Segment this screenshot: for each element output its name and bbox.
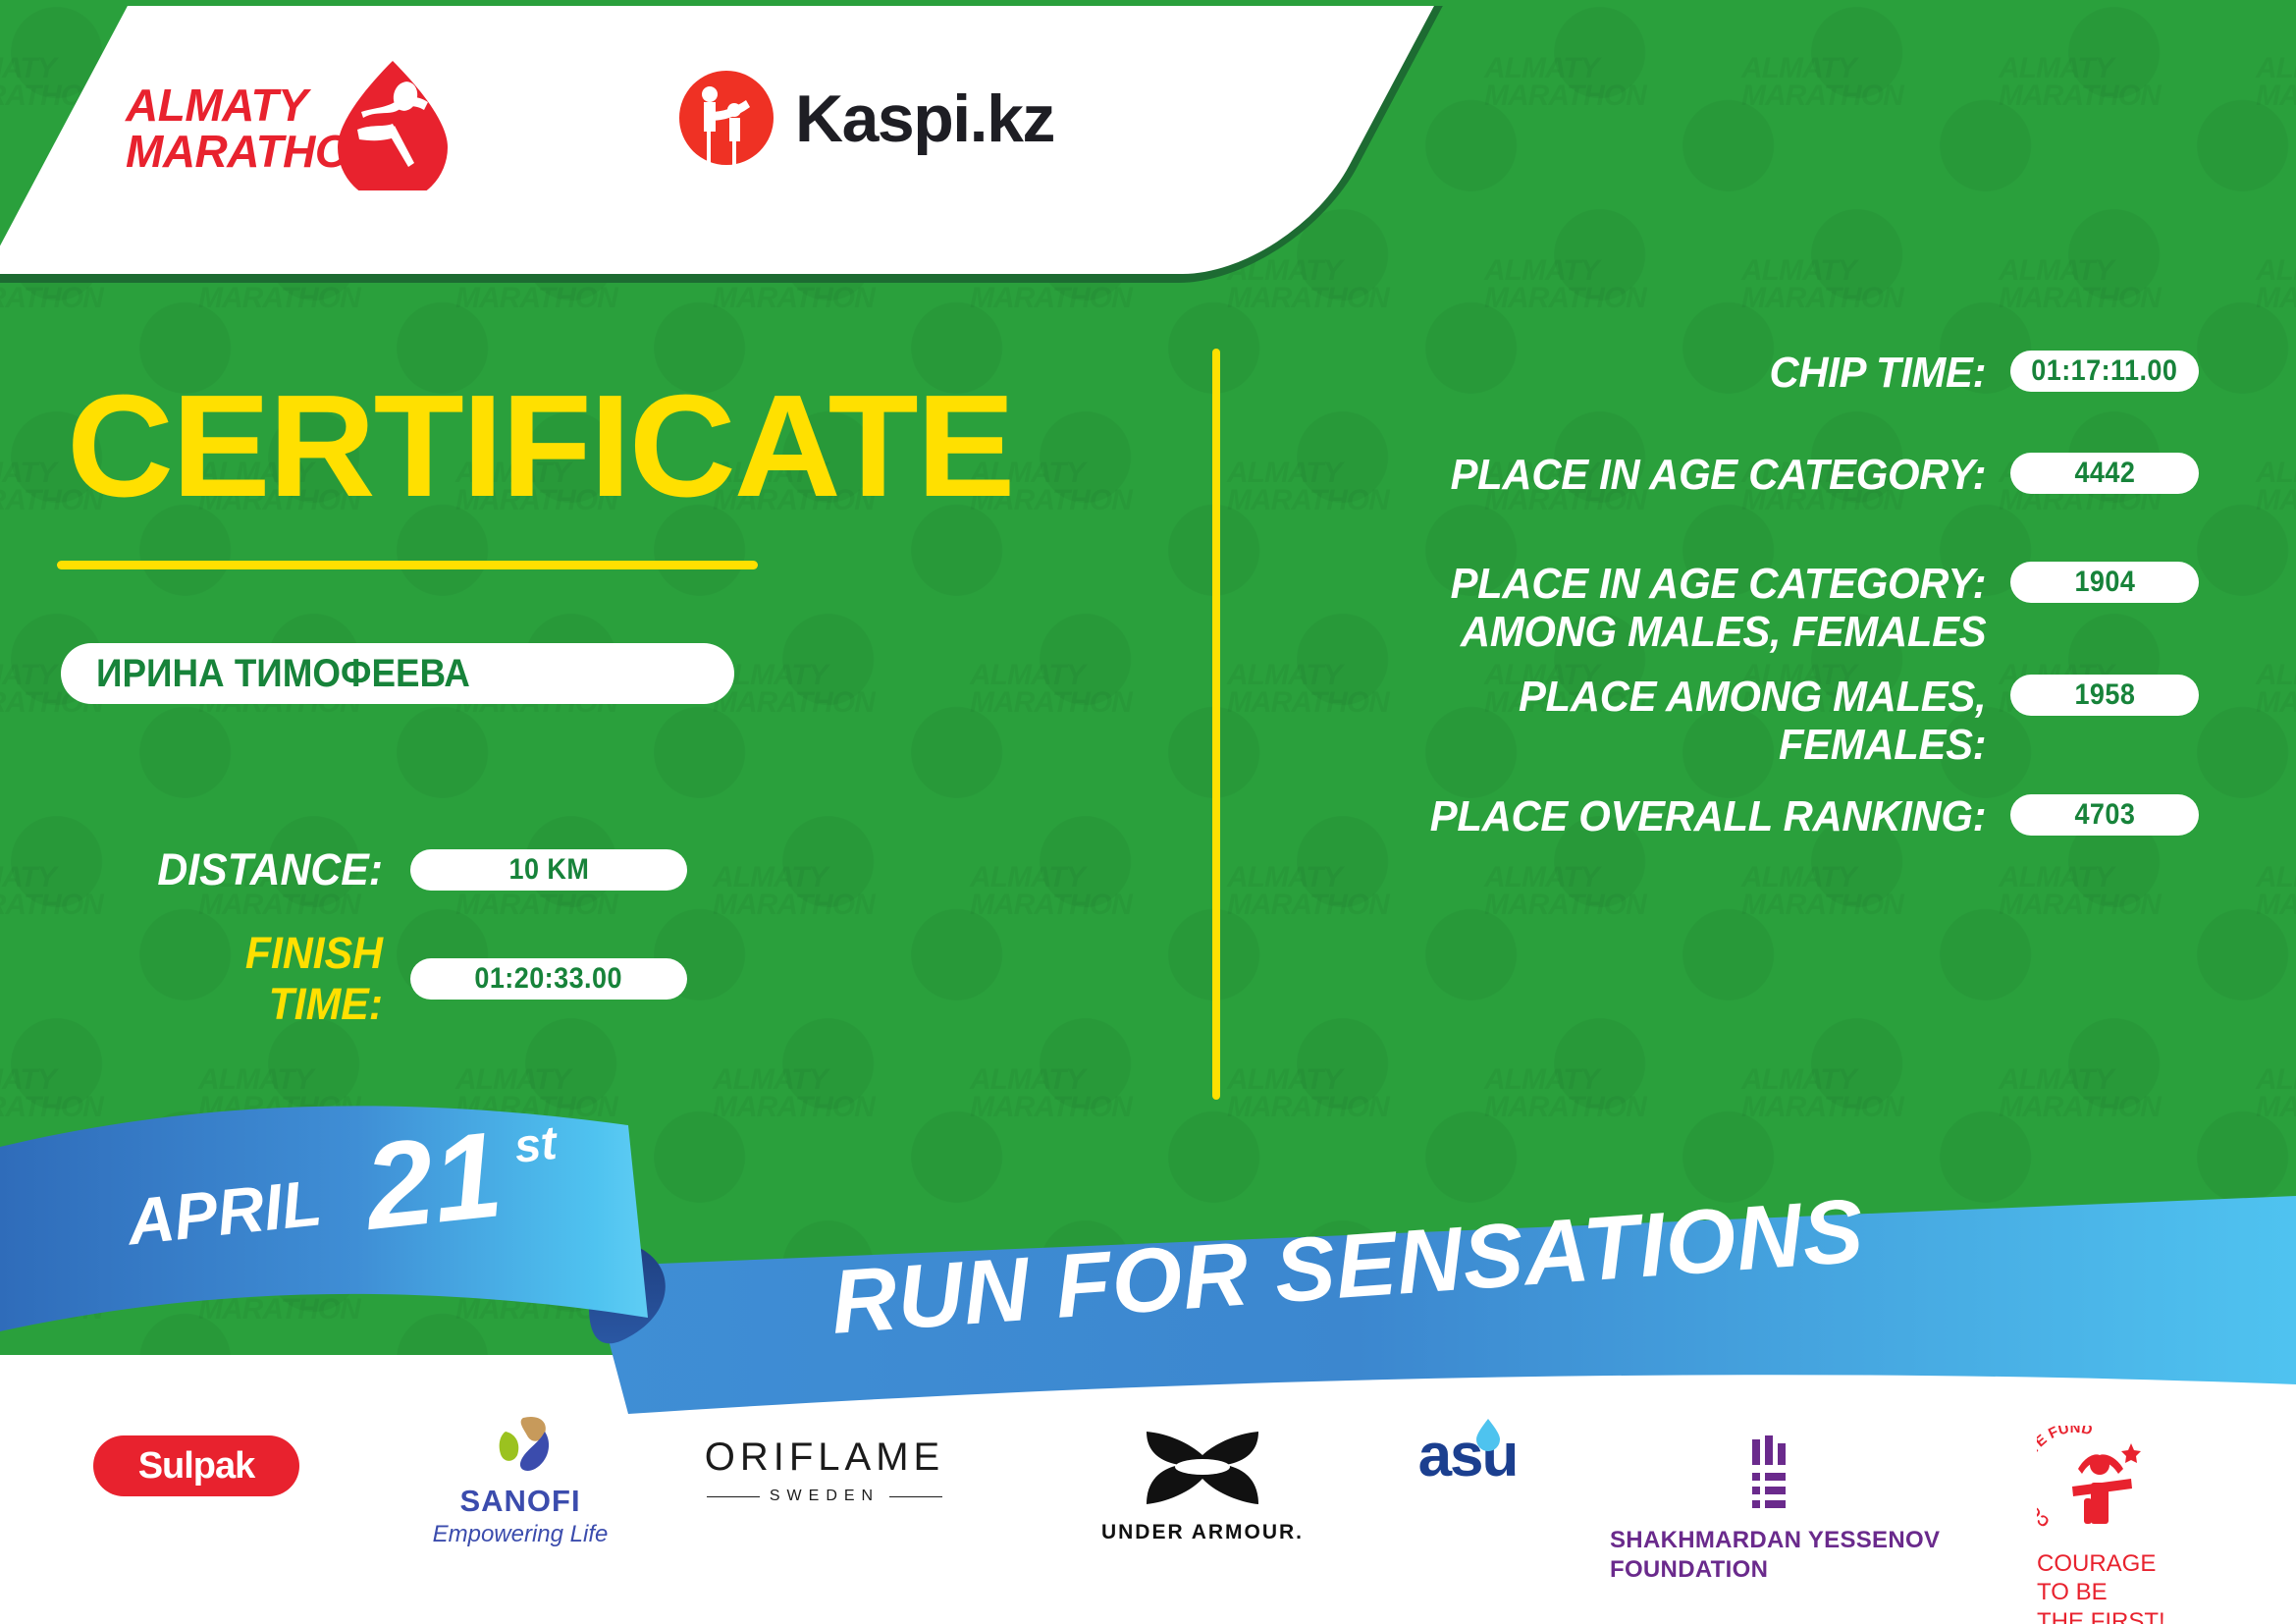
place-age-category-gender-label: PLACE IN AGE CATEGORY: AMONG MALES, FEMA… bbox=[1312, 560, 2010, 657]
sulpak-logo: Sulpak bbox=[93, 1435, 299, 1496]
chip-time-label: CHIP TIME: bbox=[1312, 349, 2010, 397]
place-overall-value-pill: 4703 bbox=[2010, 794, 2199, 836]
ribbon-day-suffix: st bbox=[512, 1117, 561, 1173]
sanofi-mark-icon bbox=[484, 1414, 557, 1480]
sulpak-name: Sulpak bbox=[138, 1445, 255, 1488]
place-age-category-label: PLACE IN AGE CATEGORY: bbox=[1312, 451, 2010, 499]
finish-time-value-pill: 01:20:33.00 bbox=[410, 958, 687, 1000]
sanofi-tagline: Empowering Life bbox=[433, 1521, 609, 1548]
watermark-tile: ALMATYMARATHON bbox=[1741, 55, 1903, 109]
ribbon-day: 21 bbox=[357, 1107, 508, 1256]
courage-figure-icon: CORPORATE FUND bbox=[2037, 1426, 2164, 1536]
watermark-tile: ALMATYMARATHON bbox=[1999, 55, 2161, 109]
place-among-gender-label: PLACE AMONG MALES, FEMALES: bbox=[1312, 673, 2010, 770]
watermark-tile: ALMATYMARATHON bbox=[2256, 460, 2296, 514]
kaspi-logo: Kaspi.kz bbox=[677, 61, 1099, 179]
oriflame-rule-right bbox=[889, 1496, 942, 1497]
page-title: CERTIFICATE bbox=[67, 374, 1013, 519]
yessenov-name-line2: FOUNDATION bbox=[1610, 1555, 1940, 1585]
event-ribbon: APRIL 21 st RUN FOR SENSATIONS bbox=[0, 1090, 2296, 1424]
under-armour-name: UNDER ARMOUR. bbox=[1101, 1521, 1304, 1544]
watermark-tile: ALMATYMARATHON bbox=[1999, 257, 2161, 311]
under-armour-icon bbox=[1139, 1428, 1266, 1515]
yessenov-name-line1: SHAKHMARDAN YESSENOV bbox=[1610, 1526, 1940, 1555]
finish-time-value: 01:20:33.00 bbox=[475, 962, 623, 996]
watermark-tile: ALMATYMARATHON bbox=[0, 864, 103, 918]
watermark-tile: ALMATYMARATHON bbox=[1227, 257, 1389, 311]
sponsor-yessenov-foundation: SHAKHMARDAN YESSENOV FOUNDATION bbox=[1610, 1435, 1940, 1585]
finish-time-label: FINISH TIME: bbox=[150, 928, 384, 1030]
sponsor-bar: Sulpak SANOFI Empowering Life ORIFLAME S… bbox=[0, 1414, 2296, 1591]
watermark-tile: ALMATYMARATHON bbox=[1999, 864, 2161, 918]
kaspi-people-circle-icon bbox=[677, 69, 775, 172]
yessenov-mark-icon bbox=[1750, 1435, 1799, 1506]
watermark-tile: ALMATYMARATHON bbox=[970, 662, 1132, 716]
sponsor-under-armour: UNDER ARMOUR. bbox=[1090, 1428, 1315, 1544]
sanofi-name: SANOFI bbox=[459, 1484, 580, 1519]
chip-time-value-pill: 01:17:11.00 bbox=[2010, 351, 2199, 392]
oriflame-rule-left bbox=[707, 1496, 760, 1497]
place-among-gender-row: PLACE AMONG MALES, FEMALES: 1958 bbox=[1276, 673, 2199, 770]
place-overall-label: PLACE OVERALL RANKING: bbox=[1312, 792, 2010, 840]
oriflame-sub: SWEDEN bbox=[770, 1488, 880, 1505]
vertical-divider bbox=[1212, 349, 1220, 1100]
place-age-category-value: 4442 bbox=[2074, 457, 2135, 490]
watermark-tile: ALMATYMARATHON bbox=[1484, 864, 1646, 918]
watermark-tile: ALMATYMARATHON bbox=[2256, 864, 2296, 918]
place-overall-row: PLACE OVERALL RANKING: 4703 bbox=[1276, 792, 2199, 840]
chip-time-value: 01:17:11.00 bbox=[2031, 354, 2177, 388]
place-age-category-row: PLACE IN AGE CATEGORY: 4442 bbox=[1276, 451, 2199, 499]
place-age-category-gender-value: 1904 bbox=[2074, 566, 2135, 599]
courage-line3: THE FIRST! bbox=[2037, 1607, 2165, 1624]
watermark-tile: ALMATYMARATHON bbox=[970, 864, 1132, 918]
distance-value: 10 KM bbox=[508, 853, 589, 887]
distance-value-pill: 10 KM bbox=[410, 849, 687, 891]
place-overall-value: 4703 bbox=[2074, 798, 2135, 832]
participant-name: ИРИНА ТИМОФЕЕВА bbox=[96, 652, 470, 696]
watermark-tile: ALMATYMARATHON bbox=[2256, 257, 2296, 311]
place-age-category-gender-row: PLACE IN AGE CATEGORY: AMONG MALES, FEMA… bbox=[1276, 560, 2199, 657]
asu-name: asu bbox=[1418, 1426, 1518, 1487]
sponsor-sanofi: SANOFI Empowering Life bbox=[412, 1414, 628, 1548]
watermark-tile: ALMATYMARATHON bbox=[713, 864, 875, 918]
watermark-tile: ALMATYMARATHON bbox=[1484, 55, 1646, 109]
sponsor-oriflame: ORIFLAME SWEDEN bbox=[687, 1435, 962, 1505]
almaty-marathon-logo: ALMATY MARATHON bbox=[126, 57, 450, 194]
kaspi-wordmark: Kaspi.kz bbox=[795, 81, 1054, 157]
asu-droplet-icon bbox=[1475, 1418, 1501, 1451]
participant-name-field: ИРИНА ТИМОФЕЕВА bbox=[61, 643, 734, 704]
watermark-tile: ALMATYMARATHON bbox=[1227, 864, 1389, 918]
watermark-tile: ALMATYMARATHON bbox=[1741, 864, 1903, 918]
place-among-gender-value-pill: 1958 bbox=[2010, 675, 2199, 716]
courage-line1: COURAGE bbox=[2037, 1549, 2165, 1578]
place-among-gender-value: 1958 bbox=[2074, 678, 2135, 712]
watermark-tile: ALMATYMARATHON bbox=[2256, 55, 2296, 109]
oriflame-name: ORIFLAME bbox=[705, 1435, 944, 1480]
watermark-tile: ALMATYMARATHON bbox=[713, 662, 875, 716]
distance-row: DISTANCE: 10 KM bbox=[137, 844, 687, 895]
watermark-tile: ALMATYMARATHON bbox=[2256, 662, 2296, 716]
finish-time-row: FINISH TIME: 01:20:33.00 bbox=[137, 928, 687, 1030]
place-age-category-value-pill: 4442 bbox=[2010, 453, 2199, 494]
sponsor-courage-to-be-the-first: CORPORATE FUND COURAGE TO BE THE FIRST! bbox=[2037, 1426, 2165, 1624]
certificate-page: ALMATYMARATHONALMATYMARATHONALMATYMARATH… bbox=[0, 0, 2296, 1624]
place-age-category-gender-value-pill: 1904 bbox=[2010, 562, 2199, 603]
oriflame-sub-row: SWEDEN bbox=[707, 1488, 942, 1505]
sponsor-sulpak: Sulpak bbox=[93, 1435, 299, 1496]
runner-drop-icon bbox=[334, 57, 452, 195]
distance-label: DISTANCE: bbox=[150, 844, 384, 895]
chip-time-row: CHIP TIME: 01:17:11.00 bbox=[1276, 349, 2199, 397]
title-underline bbox=[57, 561, 758, 569]
header: ALMATY MARATHON bbox=[0, 0, 1178, 280]
courage-line2: TO BE bbox=[2037, 1578, 2165, 1606]
watermark-tile: ALMATYMARATHON bbox=[1484, 257, 1646, 311]
watermark-tile: ALMATYMARATHON bbox=[1741, 257, 1903, 311]
sponsor-asu: asu bbox=[1369, 1426, 1566, 1487]
